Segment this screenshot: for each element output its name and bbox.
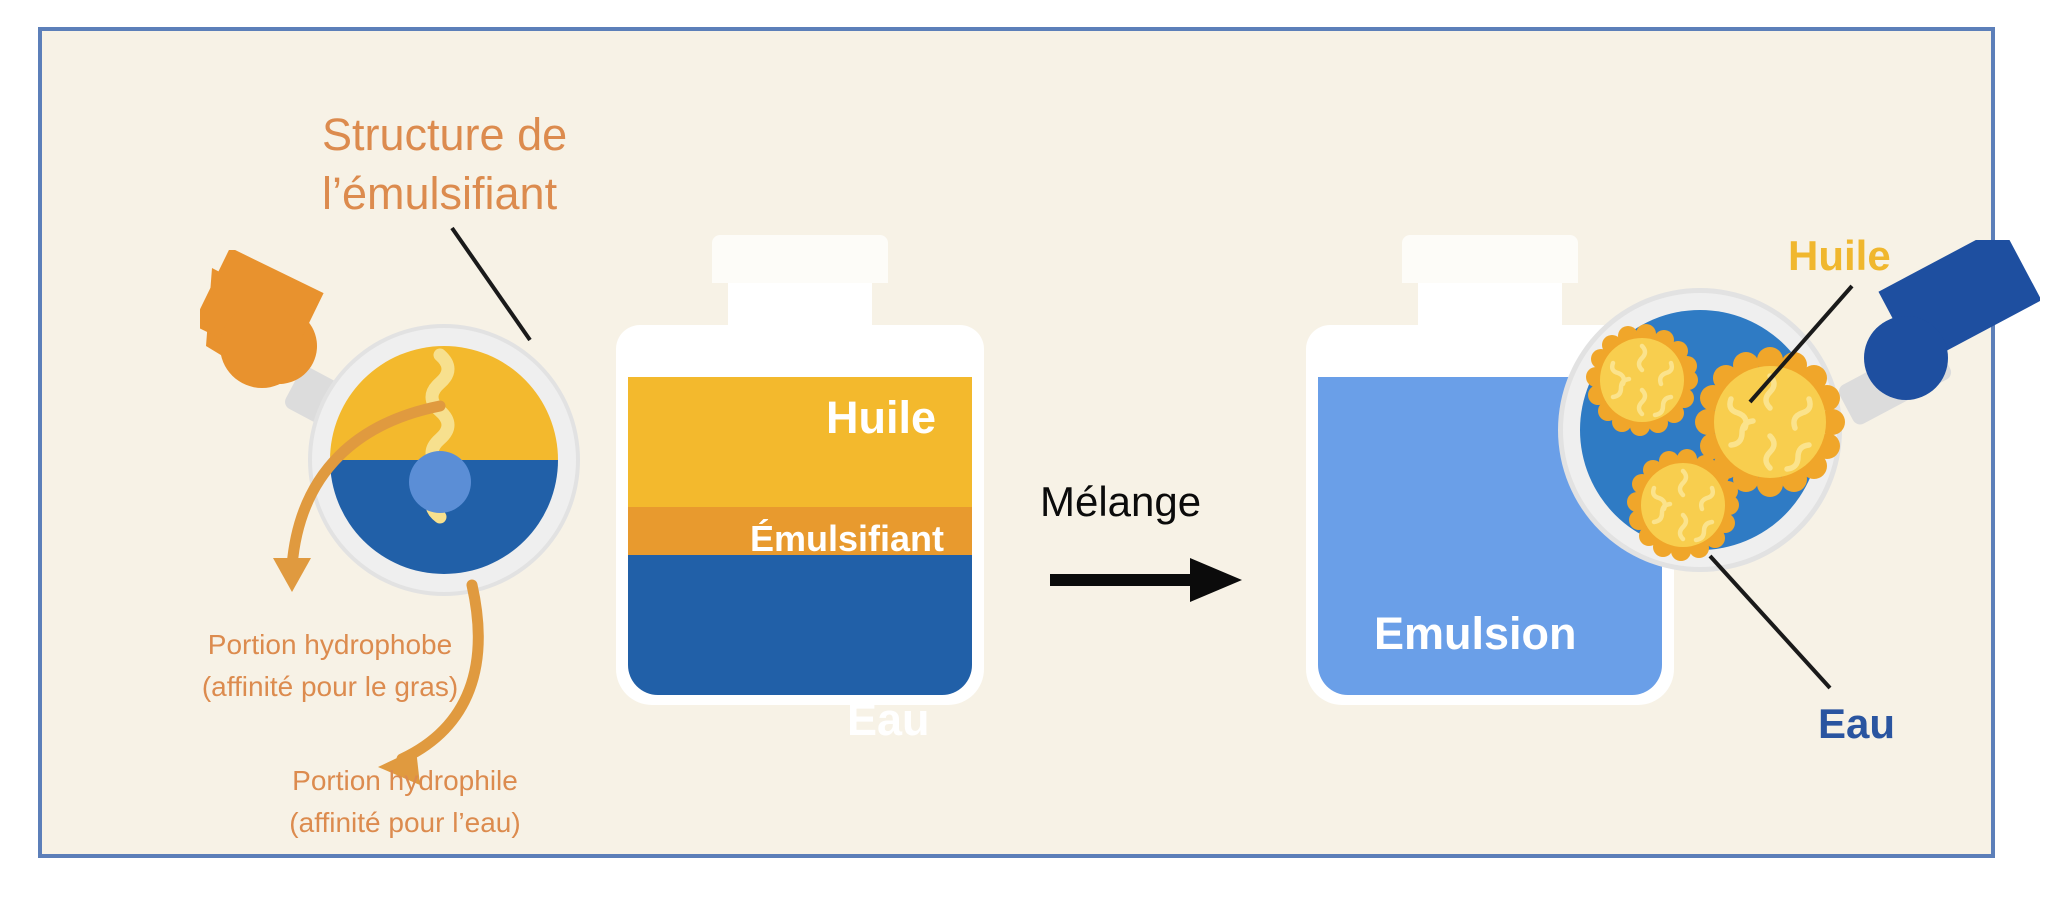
layer-water — [628, 555, 972, 695]
transition-arrow-icon — [1046, 550, 1256, 610]
callout-line-eau — [1700, 550, 1870, 700]
callout-label-eau: Eau — [1818, 700, 1895, 748]
left-title-line1: Structure de — [322, 105, 742, 164]
jar-label-emulsifiant: Émulsifiant — [750, 518, 944, 560]
jar-label-huile: Huile — [826, 392, 936, 444]
left-jar — [600, 225, 1000, 805]
left-title: Structure de l’émulsifiant — [322, 105, 742, 223]
callout-line-huile — [1740, 280, 1880, 410]
jar-neck — [728, 283, 872, 325]
jar-label-eau: Eau — [847, 694, 930, 746]
jar-cap — [712, 235, 888, 283]
annotation-hydrophobe-line2: (affinité pour le gras) — [120, 666, 540, 708]
diagram-canvas: Structure de l’émulsifiant Huile Émulsif… — [0, 0, 2048, 917]
annotation-hydrophile-line1: Portion hydrophile — [195, 760, 615, 802]
annotation-hydrophobe-line1: Portion hydrophobe — [120, 624, 540, 666]
annotation-hydrophile: Portion hydrophile (affinité pour l’eau) — [195, 760, 615, 844]
annotation-hydrophile-line2: (affinité pour l’eau) — [195, 802, 615, 844]
annotation-hydrophobe: Portion hydrophobe (affinité pour le gra… — [120, 624, 540, 708]
callout-label-huile: Huile — [1788, 232, 1891, 280]
transition-label: Mélange — [1040, 478, 1201, 526]
